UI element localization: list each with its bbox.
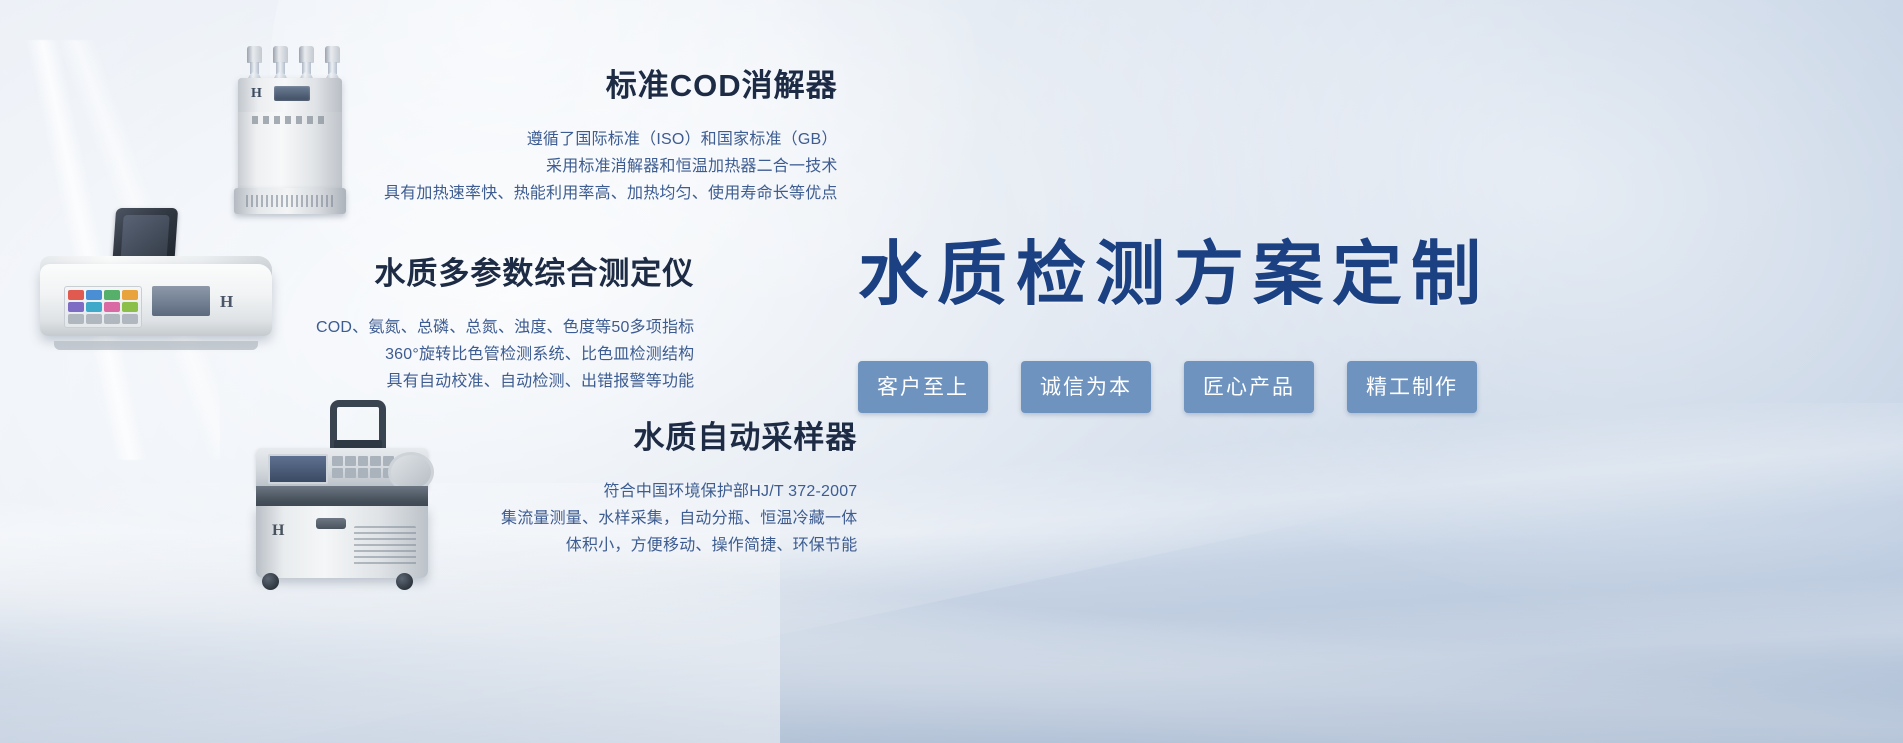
product-desc-line: 采用标准消解器和恒温加热器二合一技术 <box>384 153 838 180</box>
sampler-door-latch <box>316 518 346 529</box>
sampler-wheel <box>262 573 279 590</box>
hero-section: 水质检测方案定制 客户至上 诚信为本 匠心产品 精工制作 <box>858 236 1538 413</box>
product-desc-line: 具有自动校准、自动检测、出错报警等功能 <box>316 368 694 395</box>
automatic-sampler-image: H <box>238 400 443 580</box>
product-desc-line: 360°旋转比色管检测系统、比色皿检测结构 <box>316 341 694 368</box>
cod-digester-image: H <box>232 44 348 214</box>
product-block-multiparameter-analyzer: H 水质多参数综合测定仪 COD、氨氮、总磷、总氮、浊度、色度等50多项指标 3… <box>30 208 694 395</box>
cod-digester-text: 标准COD消解器 遵循了国际标准（ISO）和国家标准（GB） 采用标准消解器和恒… <box>384 44 838 207</box>
automatic-sampler-illustration: H <box>238 400 443 580</box>
brand-logo-icon: H <box>220 292 233 312</box>
cod-digester-illustration: H <box>232 44 348 214</box>
product-desc-line: 符合中国环境保护部HJ/T 372-2007 <box>501 478 857 505</box>
product-desc-line: 具有加热速率快、热能利用率高、加热均匀、使用寿命长等优点 <box>384 180 838 207</box>
analyzer-display <box>152 286 210 316</box>
sampler-mid-band <box>256 486 428 508</box>
product-desc-line: COD、氨氮、总磷、总氮、浊度、色度等50多项指标 <box>316 314 694 341</box>
product-title: 标准COD消解器 <box>384 68 838 104</box>
sampler-wheel <box>396 573 413 590</box>
badge-customer-first[interactable]: 客户至上 <box>858 361 988 413</box>
sampler-display <box>268 454 328 484</box>
badge-integrity[interactable]: 诚信为本 <box>1021 361 1151 413</box>
sampler-vent-grille <box>354 526 416 566</box>
analyzer-keypad <box>64 286 142 328</box>
multiparameter-analyzer-text: 水质多参数综合测定仪 COD、氨氮、总磷、总氮、浊度、色度等50多项指标 360… <box>316 208 694 395</box>
product-desc-line: 遵循了国际标准（ISO）和国家标准（GB） <box>384 126 838 153</box>
brand-logo-icon: H <box>272 522 284 540</box>
sampler-keypad <box>332 456 394 478</box>
product-title: 水质自动采样器 <box>501 420 857 456</box>
page-title: 水质检测方案定制 <box>858 236 1538 313</box>
analyzer-base <box>54 341 258 350</box>
automatic-sampler-text: 水质自动采样器 符合中国环境保护部HJ/T 372-2007 集流量测量、水样采… <box>501 400 857 559</box>
cod-digester-display <box>274 86 310 101</box>
badge-craftsmanship[interactable]: 匠心产品 <box>1184 361 1314 413</box>
water-quality-banner: H 标准COD消解器 遵循了国际标准（ISO）和国家标准（GB） 采用标准消解器… <box>0 0 1903 743</box>
multiparameter-analyzer-illustration: H <box>30 208 290 358</box>
product-desc-line: 体积小，方便移动、操作简捷、环保节能 <box>501 532 857 559</box>
cod-digester-vents <box>246 195 334 207</box>
product-block-automatic-sampler: H 水质自动采样器 符合中国环境保护部HJ/T 372-2007 集流量测量、水… <box>238 400 857 580</box>
badge-list: 客户至上 诚信为本 匠心产品 精工制作 <box>858 361 1538 413</box>
brand-logo-icon: H <box>249 85 264 102</box>
cod-digester-keypad <box>252 116 324 124</box>
badge-fine-workmanship[interactable]: 精工制作 <box>1347 361 1477 413</box>
product-title: 水质多参数综合测定仪 <box>316 256 694 292</box>
multiparameter-analyzer-image: H <box>30 208 290 358</box>
product-desc-line: 集流量测量、水样采集，自动分瓶、恒温冷藏一体 <box>501 505 857 532</box>
product-block-cod-digester: H 标准COD消解器 遵循了国际标准（ISO）和国家标准（GB） 采用标准消解器… <box>232 44 838 214</box>
